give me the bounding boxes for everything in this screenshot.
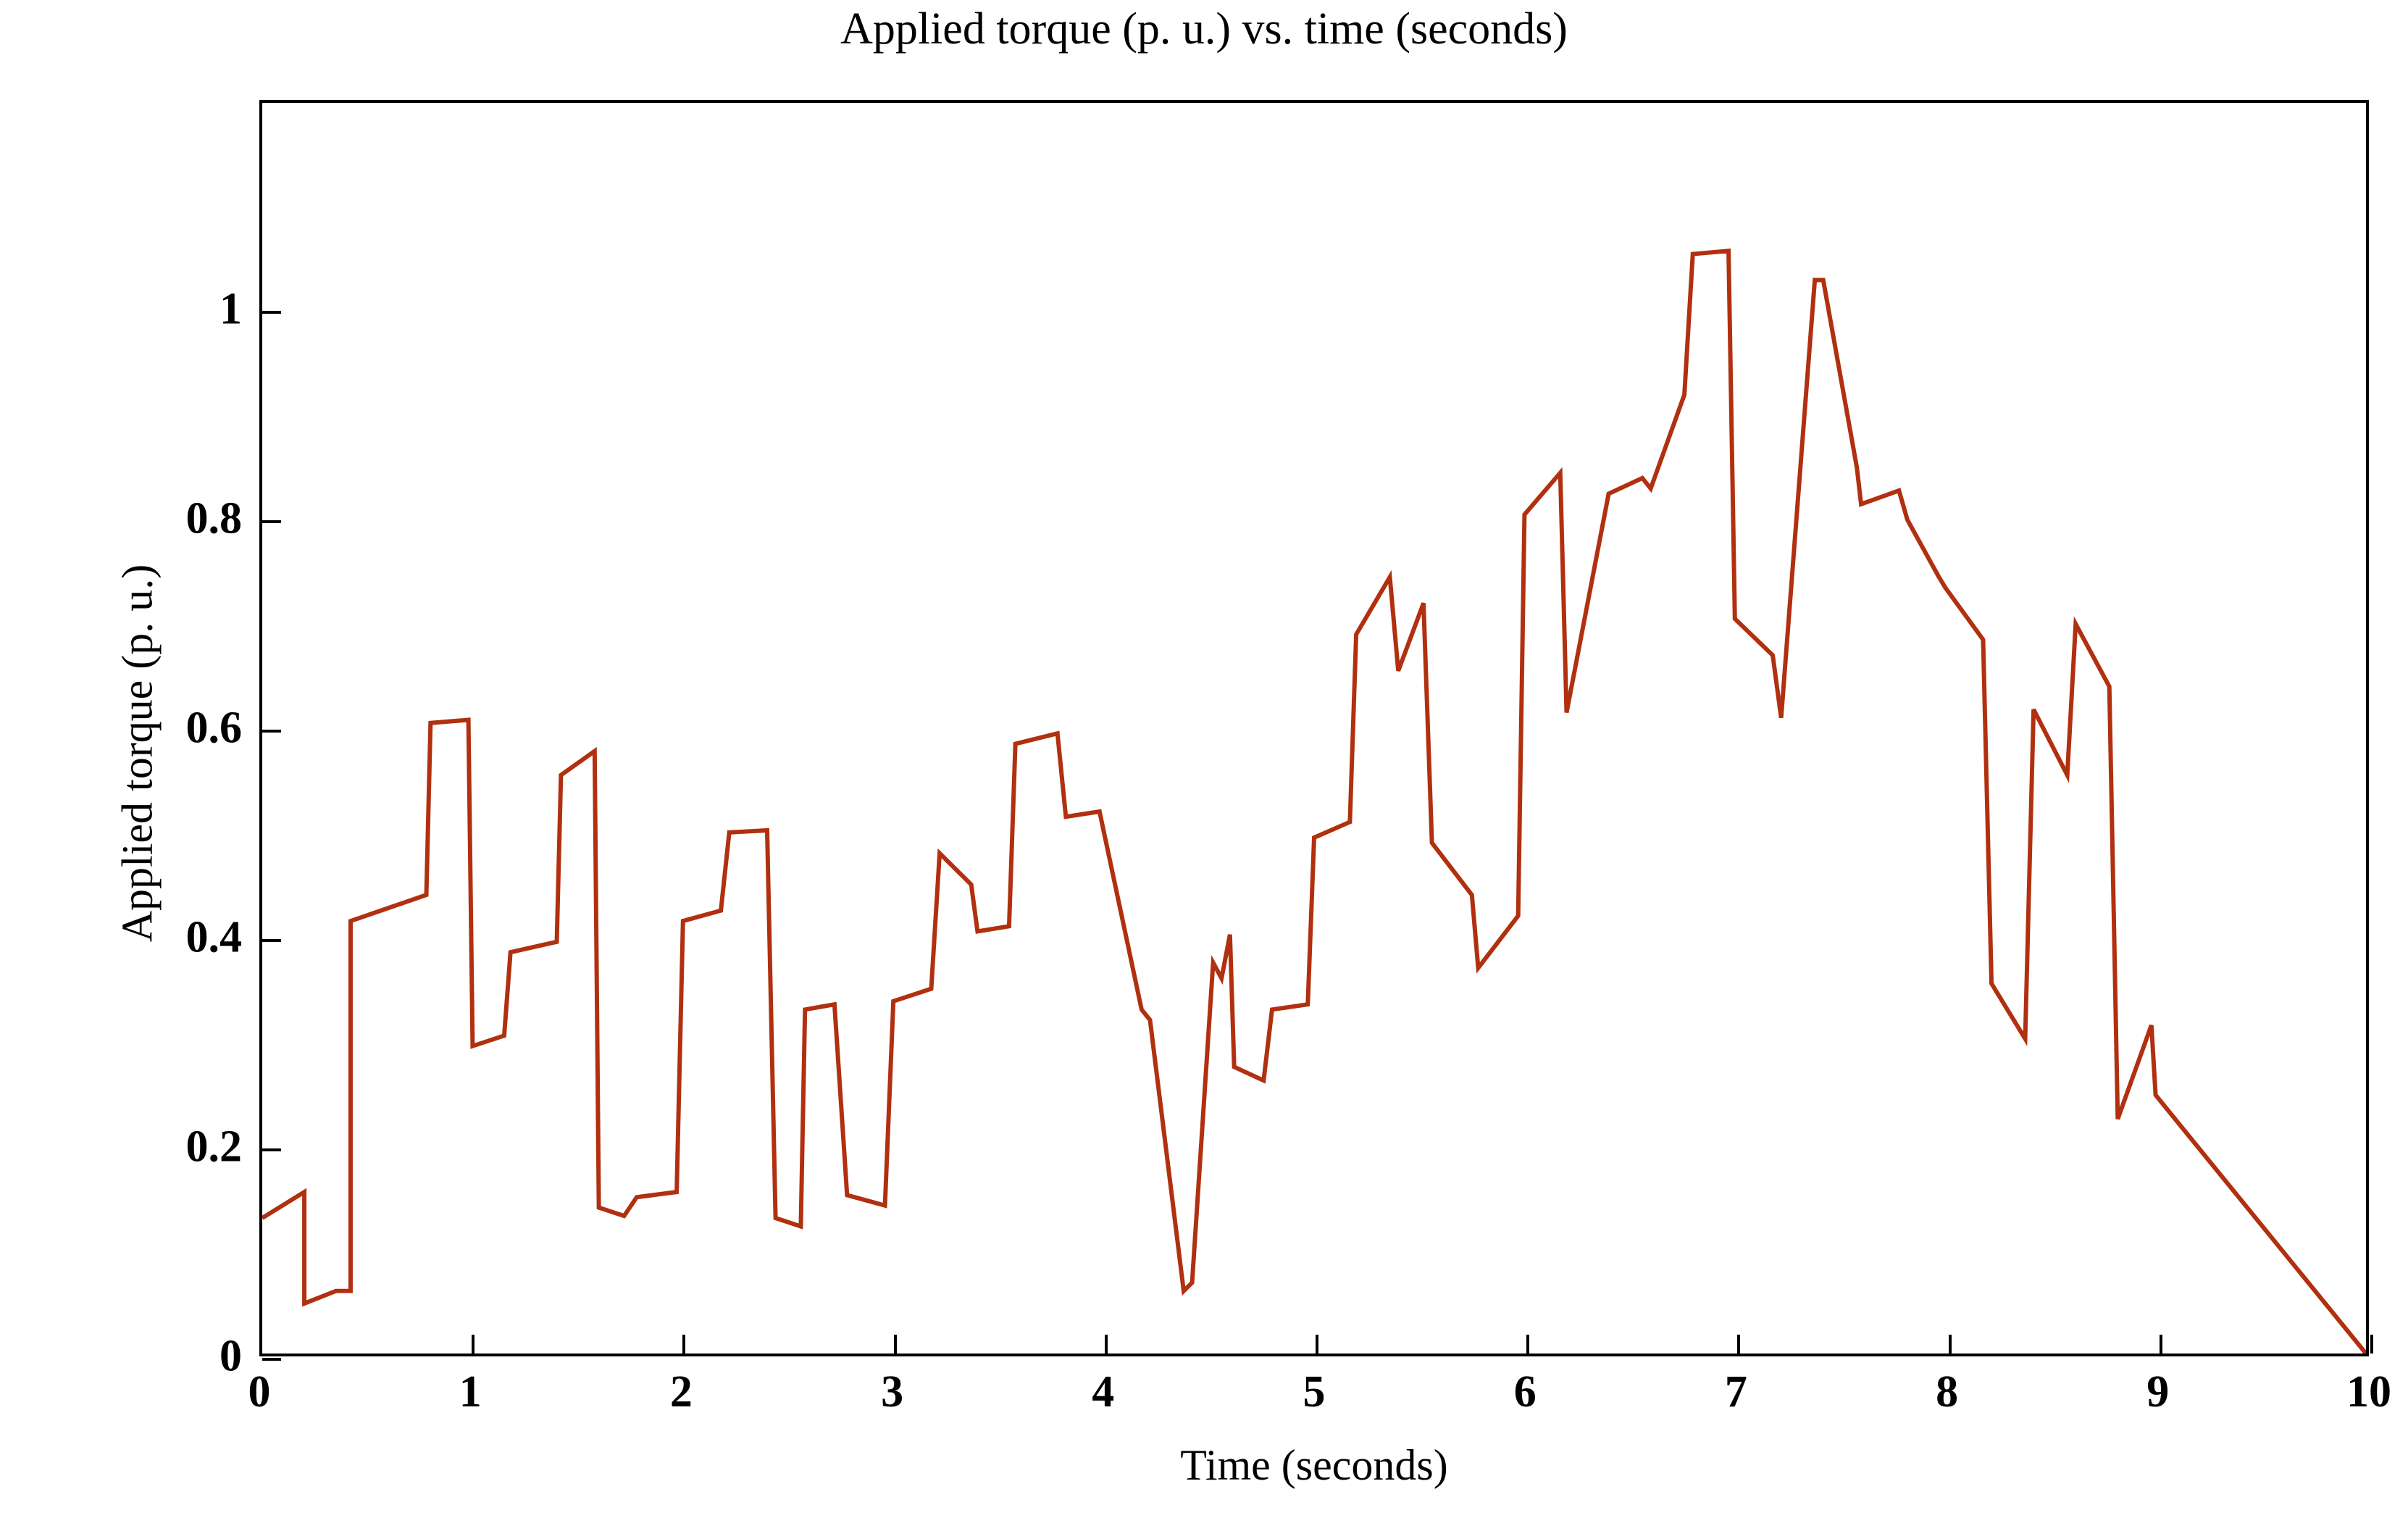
y-tick-label: 0 [0, 1331, 242, 1382]
x-tick-label: 10 [2346, 1367, 2391, 1418]
x-tick-mark [1737, 1335, 1740, 1354]
x-tick-mark [682, 1335, 685, 1354]
x-tick-mark [894, 1335, 897, 1354]
x-tick-mark [472, 1335, 475, 1354]
x-tick-mark [2370, 1335, 2373, 1354]
x-tick-mark [1316, 1335, 1318, 1354]
plot-area [259, 100, 2369, 1356]
x-tick-label: 4 [1092, 1367, 1114, 1418]
x-tick-mark [2160, 1335, 2162, 1354]
y-tick-mark [262, 730, 281, 733]
x-tick-label: 3 [881, 1367, 903, 1418]
x-axis-title: Time (seconds) [259, 1440, 2369, 1490]
x-tick-mark [1105, 1335, 1108, 1354]
x-tick-label: 0 [248, 1367, 271, 1418]
y-tick-mark [262, 1148, 281, 1151]
x-tick-label: 1 [459, 1367, 482, 1418]
x-tick-label: 7 [1725, 1367, 1747, 1418]
y-tick-mark [262, 311, 281, 314]
y-tick-mark [262, 520, 281, 523]
x-tick-label: 2 [670, 1367, 693, 1418]
x-tick-label: 9 [2146, 1367, 2169, 1418]
y-tick-mark [262, 1358, 281, 1361]
x-tick-label: 8 [1936, 1367, 1958, 1418]
x-tick-mark [1526, 1335, 1529, 1354]
x-tick-label: 6 [1514, 1367, 1537, 1418]
y-tick-mark [262, 939, 281, 942]
torque-line-plot [262, 103, 2366, 1354]
x-tick-label: 5 [1303, 1367, 1326, 1418]
chart-title: Applied torque (p. u.) vs. time (seconds… [0, 4, 2408, 54]
torque-series-line [262, 251, 2366, 1354]
figure-canvas: Applied torque (p. u.) vs. time (seconds… [0, 0, 2408, 1539]
y-axis-title: Applied torque (p. u.) [113, 210, 163, 1297]
x-tick-mark [1949, 1335, 1952, 1354]
